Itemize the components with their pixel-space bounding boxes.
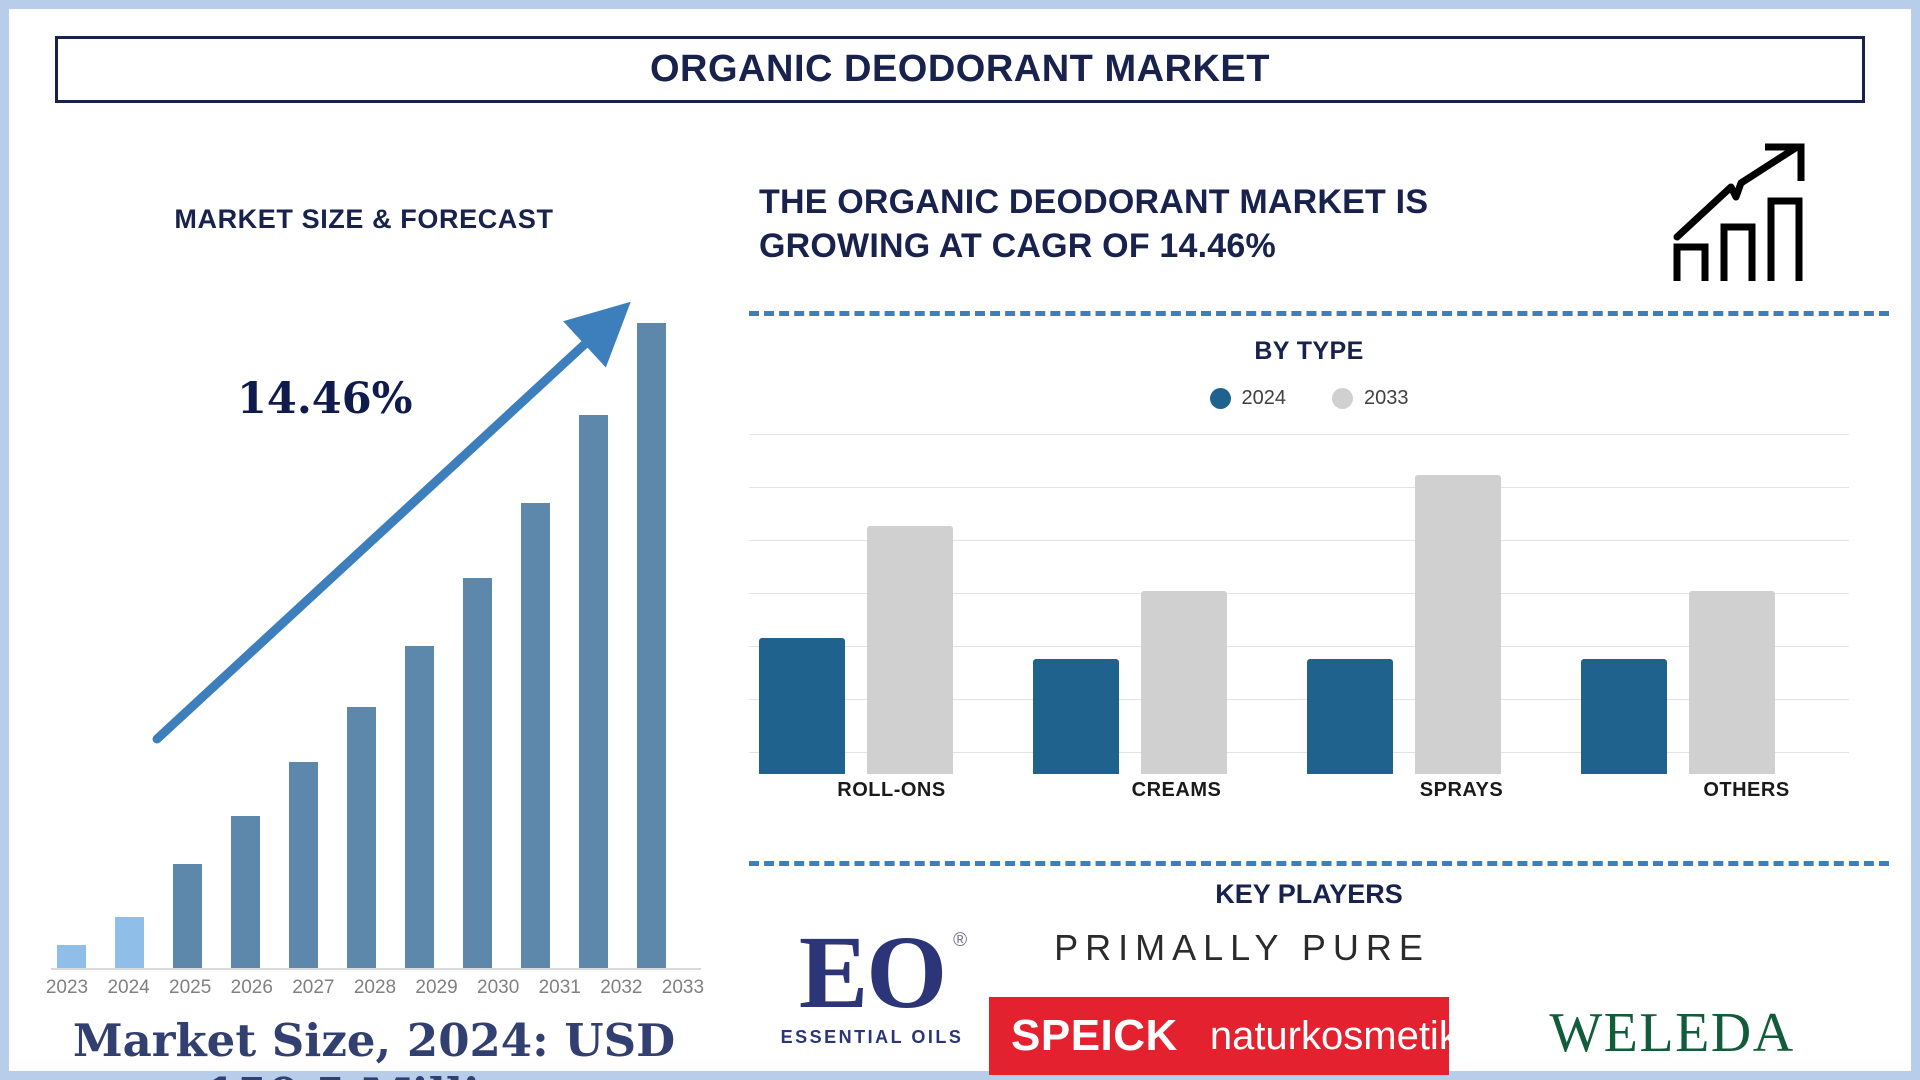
year-axis-labels: 2023 2024 2025 2026 2027 2028 2029 2030 …	[39, 977, 711, 999]
eo-subtitle: ESSENTIAL OILS	[767, 1027, 977, 1048]
market-size-line-2: 150.5 Million	[29, 1068, 719, 1080]
registered-trademark-icon: ®	[953, 931, 965, 950]
by-type-bar-chart	[749, 434, 1889, 774]
logo-eo-essential-oils: EO ® ESSENTIAL OILS	[767, 921, 977, 1048]
page-title: ORGANIC DEODORANT MARKET	[650, 48, 1270, 91]
category-label-sprays: SPRAYS	[1319, 779, 1604, 802]
bar-creams-2033	[1141, 591, 1227, 774]
x-axis-line	[51, 968, 701, 970]
title-box: ORGANIC DEODORANT MARKET	[55, 36, 1865, 103]
eo-letters: EO	[799, 915, 945, 1030]
bar-sprays-2024	[1307, 659, 1393, 774]
legend-label: 2024	[1242, 387, 1287, 410]
category-axis-labels: ROLL-ONS CREAMS SPRAYS OTHERS	[749, 779, 1889, 802]
market-size-line-1: Market Size, 2024: USD	[29, 1014, 719, 1068]
bar-2029	[405, 646, 434, 969]
year-label: 2032	[593, 977, 649, 999]
bar-2026	[231, 816, 260, 969]
bar-group-sprays	[1307, 434, 1507, 774]
year-label: 2023	[39, 977, 95, 999]
year-label: 2033	[655, 977, 711, 999]
bar-2025	[173, 864, 202, 969]
bar-others-2024	[1581, 659, 1667, 774]
year-label: 2025	[162, 977, 218, 999]
legend-label: 2033	[1364, 387, 1409, 410]
bar-2028	[347, 707, 376, 969]
bar-2030	[463, 578, 492, 969]
logo-speick-naturkosmetik: SPEICK naturkosmetik	[989, 997, 1449, 1075]
category-label-others: OTHERS	[1604, 779, 1889, 802]
bar-chart-growth-icon	[1669, 139, 1819, 284]
market-size-value: Market Size, 2024: USD 150.5 Million	[29, 1014, 719, 1080]
naturkosmetik-wordmark: naturkosmetik	[1210, 1014, 1459, 1059]
market-size-forecast-panel: MARKET SIZE & FORECAST 14.46%	[9, 119, 719, 1079]
infographic-canvas: ORGANIC DEODORANT MARKET MARKET SIZE & F…	[9, 9, 1911, 1071]
legend-dot-icon	[1210, 388, 1231, 409]
legend-dot-icon	[1332, 388, 1353, 409]
bar-group-creams	[1033, 434, 1233, 774]
bar-2031	[521, 503, 550, 969]
bar-group-others	[1581, 434, 1781, 774]
right-panel: THE ORGANIC DEODORANT MARKET IS GROWING …	[739, 119, 1899, 1079]
bar-2024	[115, 917, 144, 969]
headline-line-1: THE ORGANIC DEODORANT MARKET IS	[759, 181, 1569, 225]
bar-group-roll-ons	[759, 434, 959, 774]
key-players-heading: KEY PLAYERS	[739, 879, 1879, 910]
year-label: 2024	[101, 977, 157, 999]
infographic-page: ORGANIC DEODORANT MARKET MARKET SIZE & F…	[0, 0, 1920, 1080]
market-size-bar-chart	[51, 309, 696, 969]
bar-others-2033	[1689, 591, 1775, 774]
category-label-roll-ons: ROLL-ONS	[749, 779, 1034, 802]
category-label-creams: CREAMS	[1034, 779, 1319, 802]
year-label: 2031	[532, 977, 588, 999]
logo-primally-pure: PRIMALLY PURE	[987, 927, 1497, 969]
year-label: 2030	[470, 977, 526, 999]
year-label: 2029	[409, 977, 465, 999]
bar-2033	[637, 323, 666, 969]
year-label: 2028	[347, 977, 403, 999]
legend-item-2024: 2024	[1210, 387, 1287, 410]
year-label: 2027	[285, 977, 341, 999]
bar-2032	[579, 415, 608, 969]
divider-bottom	[749, 861, 1889, 866]
bar-roll-ons-2024	[759, 638, 845, 774]
speick-wordmark: SPEICK	[989, 1011, 1178, 1061]
logo-weleda: WELEDA	[1507, 1001, 1837, 1065]
bar-2027	[289, 762, 318, 969]
key-players-logos: EO ® ESSENTIAL OILS PRIMALLY PURE SPEICK…	[739, 919, 1899, 1080]
eo-wordmark: EO ®	[799, 921, 945, 1025]
bar-2023	[57, 945, 86, 969]
by-type-heading: BY TYPE	[739, 337, 1879, 366]
cagr-headline: THE ORGANIC DEODORANT MARKET IS GROWING …	[759, 181, 1569, 268]
divider-top	[749, 311, 1889, 316]
market-size-forecast-heading: MARKET SIZE & FORECAST	[9, 204, 719, 235]
bar-creams-2024	[1033, 659, 1119, 774]
bar-sprays-2033	[1415, 475, 1501, 774]
bar-roll-ons-2033	[867, 526, 953, 774]
chart-legend: 2024 2033	[739, 387, 1879, 410]
legend-item-2033: 2033	[1332, 387, 1409, 410]
headline-line-2: GROWING AT CAGR OF 14.46%	[759, 225, 1569, 269]
year-label: 2026	[224, 977, 280, 999]
